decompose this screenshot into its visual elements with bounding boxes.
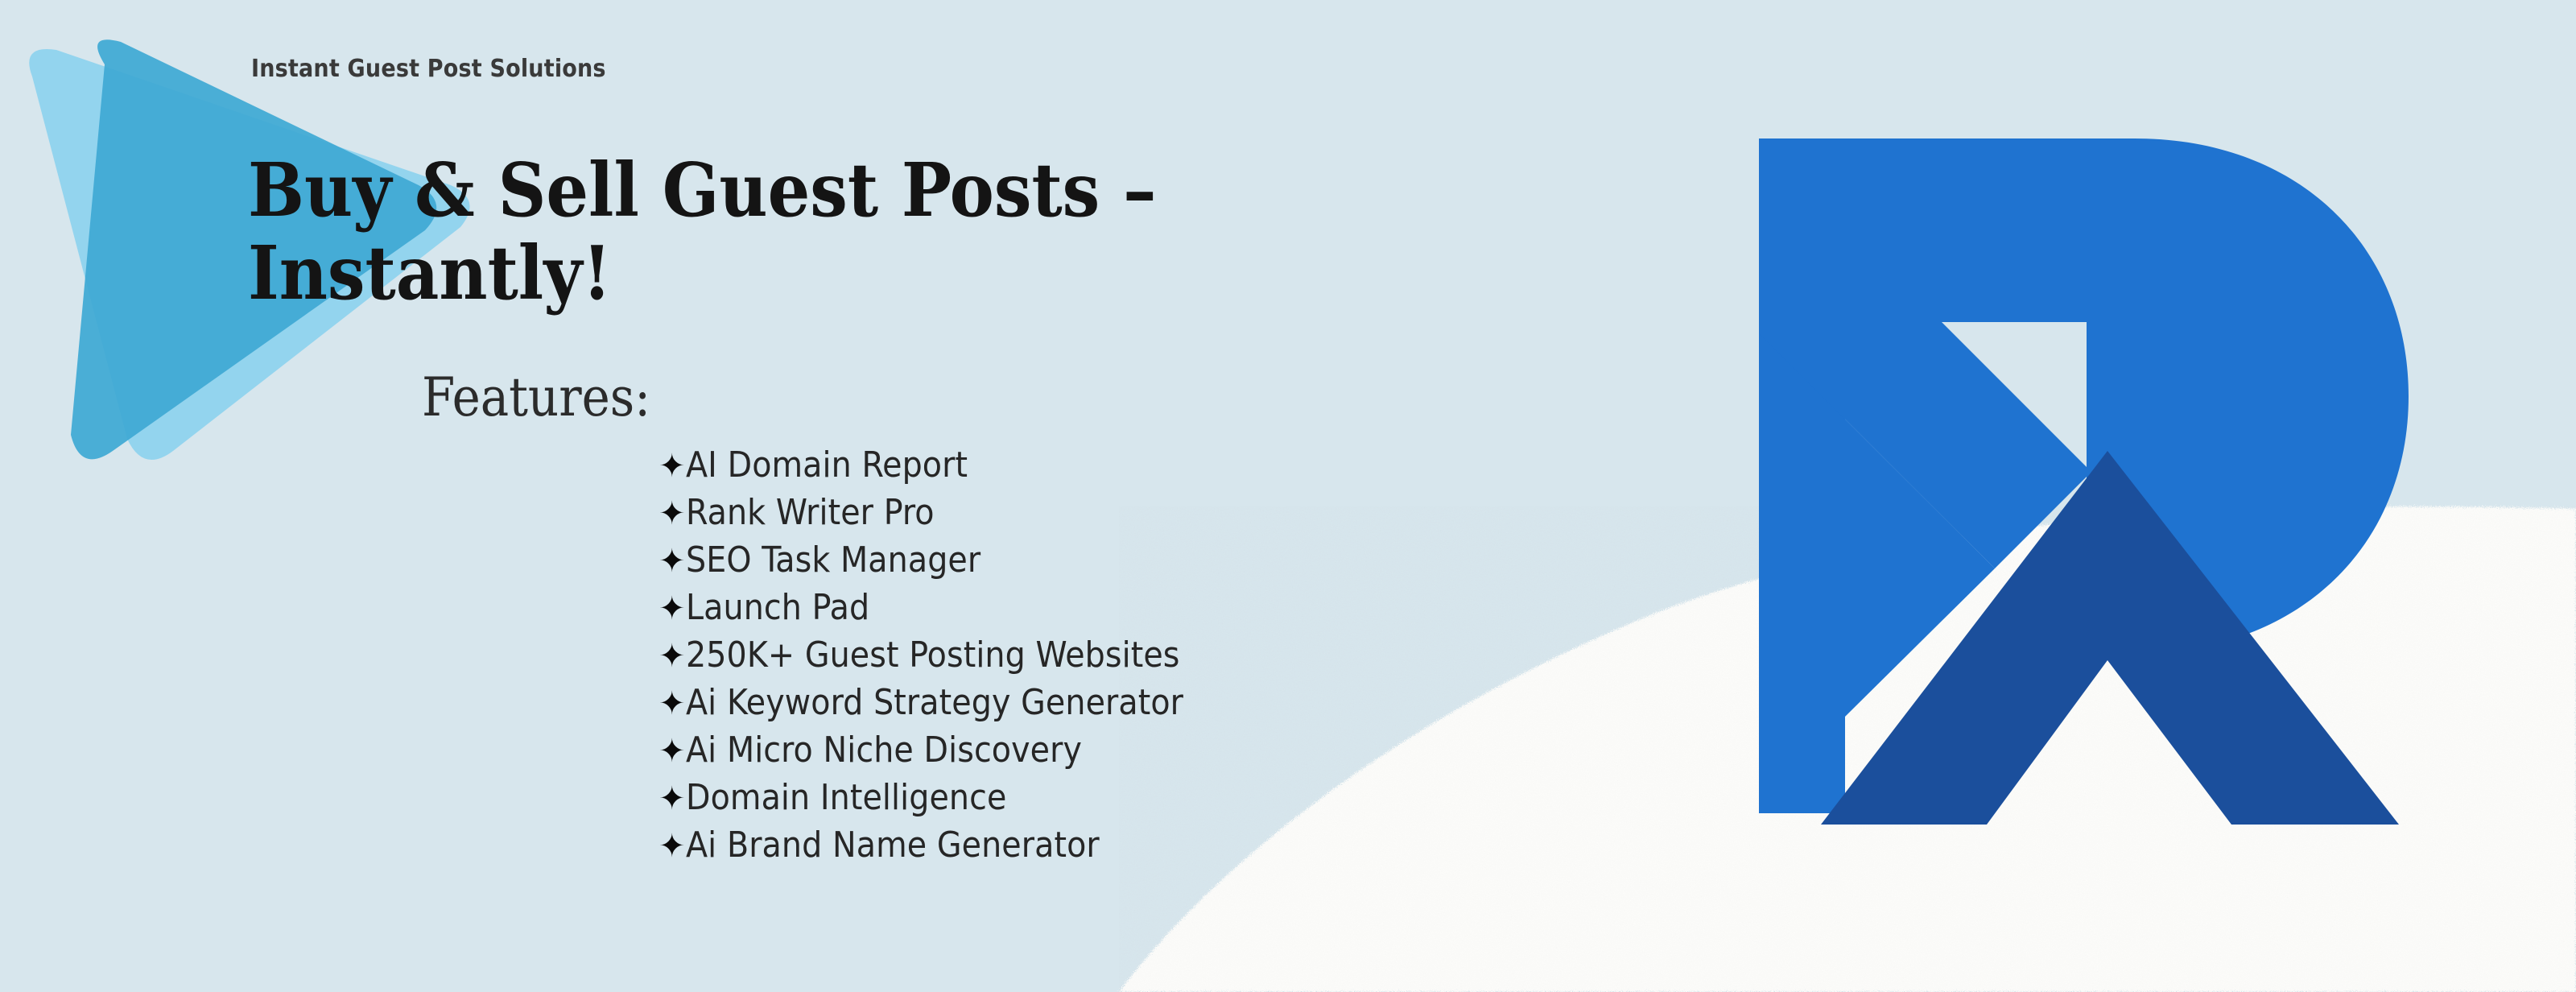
list-item: ✦ 250K+ Guest Posting Websites: [658, 634, 1183, 682]
feature-label: Rank Writer Pro: [686, 492, 935, 533]
list-item: ✦ Launch Pad: [658, 587, 1183, 634]
headline-line-1: Buy & Sell Guest Posts –: [248, 149, 1182, 232]
logo-chevron: [1843, 467, 2376, 820]
page-title: Buy & Sell Guest Posts – Instantly!: [248, 149, 1182, 315]
star-bullet-icon: ✦: [658, 640, 686, 672]
list-item: ✦ Ai Micro Niche Discovery: [658, 730, 1183, 777]
feature-label: Ai Micro Niche Discovery: [686, 730, 1082, 771]
list-item: ✦ Ai Brand Name Generator: [658, 825, 1183, 872]
feature-label: Domain Intelligence: [686, 777, 1006, 818]
star-bullet-icon: ✦: [658, 498, 686, 530]
headline-line-2: Instantly!: [248, 232, 1182, 315]
feature-label: SEO Task Manager: [686, 539, 980, 581]
star-bullet-icon: ✦: [658, 593, 686, 625]
star-bullet-icon: ✦: [658, 735, 686, 767]
feature-label: Ai Keyword Strategy Generator: [686, 682, 1183, 723]
star-bullet-icon: ✦: [658, 830, 686, 862]
logo-stem: [1759, 138, 1845, 813]
feature-label: Ai Brand Name Generator: [686, 825, 1100, 866]
logo-chevron-thick: [1821, 451, 2399, 825]
list-item: ✦ SEO Task Manager: [658, 539, 1183, 587]
list-item: ✦ Rank Writer Pro: [658, 492, 1183, 539]
feature-label: Launch Pad: [686, 587, 869, 628]
list-item: ✦ AI Domain Report: [658, 444, 1183, 492]
feature-label: 250K+ Guest Posting Websites: [686, 634, 1180, 676]
star-bullet-icon: ✦: [658, 545, 686, 577]
star-bullet-icon: ✦: [658, 450, 686, 482]
features-list: ✦ AI Domain Report ✦ Rank Writer Pro ✦ S…: [658, 444, 1183, 872]
star-bullet-icon: ✦: [658, 688, 686, 720]
feature-label: AI Domain Report: [686, 444, 968, 486]
logo-bowl: [1759, 138, 2409, 654]
logo-stem-wedge: [1759, 333, 1995, 717]
banner-root: Instant Guest Post Solutions Buy & Sell …: [0, 0, 2576, 992]
text-column: Instant Guest Post Solutions Buy & Sell …: [0, 0, 1368, 992]
list-item: ✦ Domain Intelligence: [658, 777, 1183, 825]
list-item: ✦ Ai Keyword Strategy Generator: [658, 682, 1183, 730]
eyebrow-text: Instant Guest Post Solutions: [251, 55, 606, 83]
features-heading: Features:: [422, 366, 650, 428]
star-bullet-icon: ✦: [658, 783, 686, 815]
